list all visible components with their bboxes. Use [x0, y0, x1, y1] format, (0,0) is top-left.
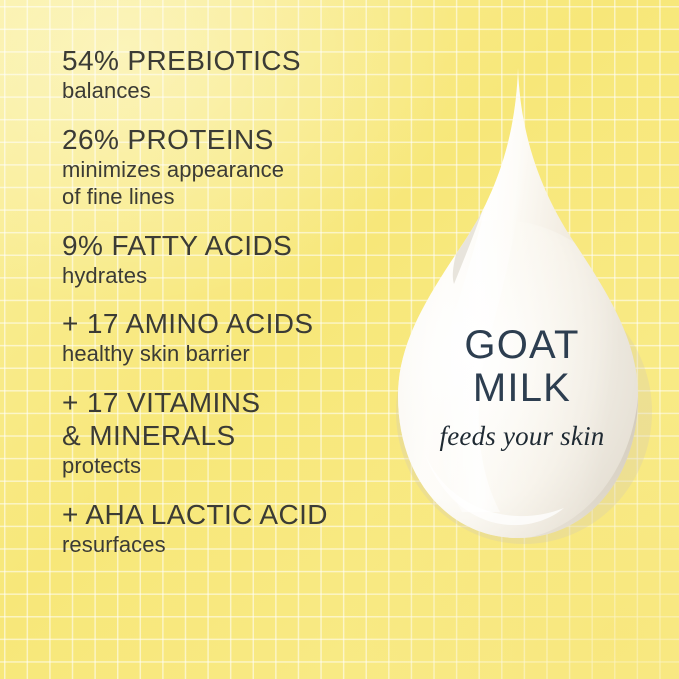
fact-subtext: healthy skin barrier — [62, 341, 392, 368]
fact-heading: + AHA LACTIC ACID — [62, 498, 392, 531]
fact-heading: + 17 AMINO ACIDS — [62, 307, 392, 340]
fact-subtext: resurfaces — [62, 532, 392, 559]
product-infographic: 54% PREBIOTICS balances 26% PROTEINS min… — [0, 0, 679, 679]
fact-heading: + 17 VITAMINS & MINERALS — [62, 386, 392, 452]
fact-subtext: protects — [62, 453, 392, 480]
list-item: 9% FATTY ACIDS hydrates — [62, 229, 392, 290]
fact-heading: 54% PREBIOTICS — [62, 44, 392, 77]
fact-subtext: hydrates — [62, 263, 392, 290]
list-item: + 17 AMINO ACIDS healthy skin barrier — [62, 307, 392, 368]
milk-droplet-graphic — [388, 60, 656, 560]
list-item: 26% PROTEINS minimizes appearance of fin… — [62, 123, 392, 211]
ingredient-fact-list: 54% PREBIOTICS balances 26% PROTEINS min… — [62, 44, 392, 559]
fact-subtext: balances — [62, 78, 392, 105]
list-item: + AHA LACTIC ACID resurfaces — [62, 498, 392, 559]
fact-heading: 9% FATTY ACIDS — [62, 229, 392, 262]
list-item: + 17 VITAMINS & MINERALS protects — [62, 386, 392, 480]
list-item: 54% PREBIOTICS balances — [62, 44, 392, 105]
fact-heading: 26% PROTEINS — [62, 123, 392, 156]
fact-subtext: minimizes appearance of fine lines — [62, 157, 392, 211]
